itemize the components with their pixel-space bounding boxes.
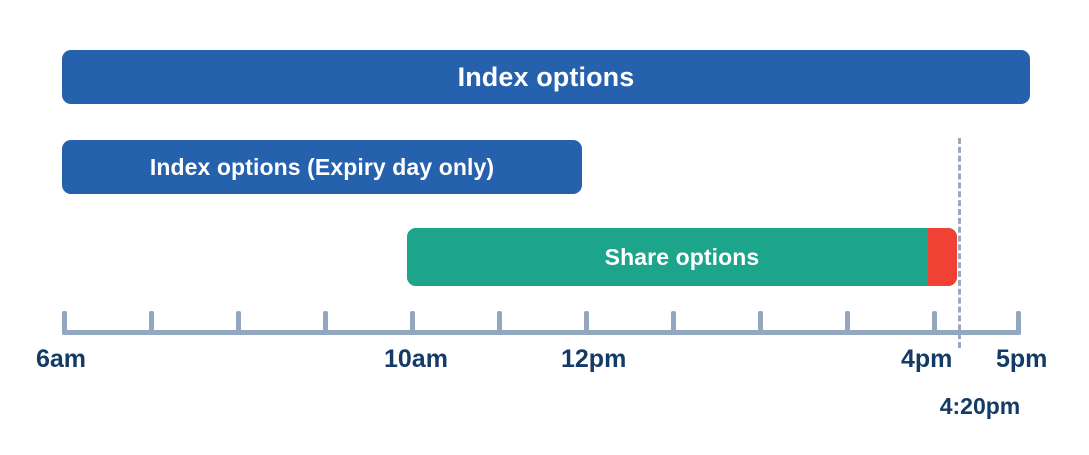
bar-share-options-closing-auction-segment	[928, 228, 957, 286]
bar-share-options-label: Share options	[605, 246, 760, 269]
axis-label-6am: 6am	[36, 345, 86, 374]
axis-baseline	[62, 330, 1021, 335]
axis-tick-3pm	[845, 311, 850, 333]
axis-tick-2pm	[758, 311, 763, 333]
cutoff-marker-label: 4:20pm	[900, 393, 1060, 420]
axis-tick-7am	[149, 311, 154, 333]
bar-index-options-expiry-day-label: Index options (Expiry day only)	[150, 156, 494, 179]
bar-index-options: Index options	[62, 50, 1030, 104]
axis-tick-1pm	[671, 311, 676, 333]
cutoff-marker-line	[958, 138, 961, 348]
axis-label-12pm: 12pm	[561, 345, 626, 374]
axis-label-5pm: 5pm	[996, 345, 1047, 374]
axis-tick-4pm	[932, 311, 937, 333]
axis-tick-10am	[410, 311, 415, 333]
axis-tick-12pm	[584, 311, 589, 333]
bar-index-options-label: Index options	[458, 64, 635, 91]
bar-index-options-expiry-day: Index options (Expiry day only)	[62, 140, 582, 194]
axis-tick-5pm	[1016, 311, 1021, 335]
axis-label-4pm: 4pm	[901, 345, 952, 374]
axis-label-10am: 10am	[384, 345, 448, 374]
trading-hours-timeline-chart: Index options Index options (Expiry day …	[0, 0, 1089, 455]
axis-tick-9am	[323, 311, 328, 333]
axis-tick-6am	[62, 311, 67, 335]
axis-tick-8am	[236, 311, 241, 333]
bar-share-options: Share options	[407, 228, 957, 286]
axis-tick-11am	[497, 311, 502, 333]
